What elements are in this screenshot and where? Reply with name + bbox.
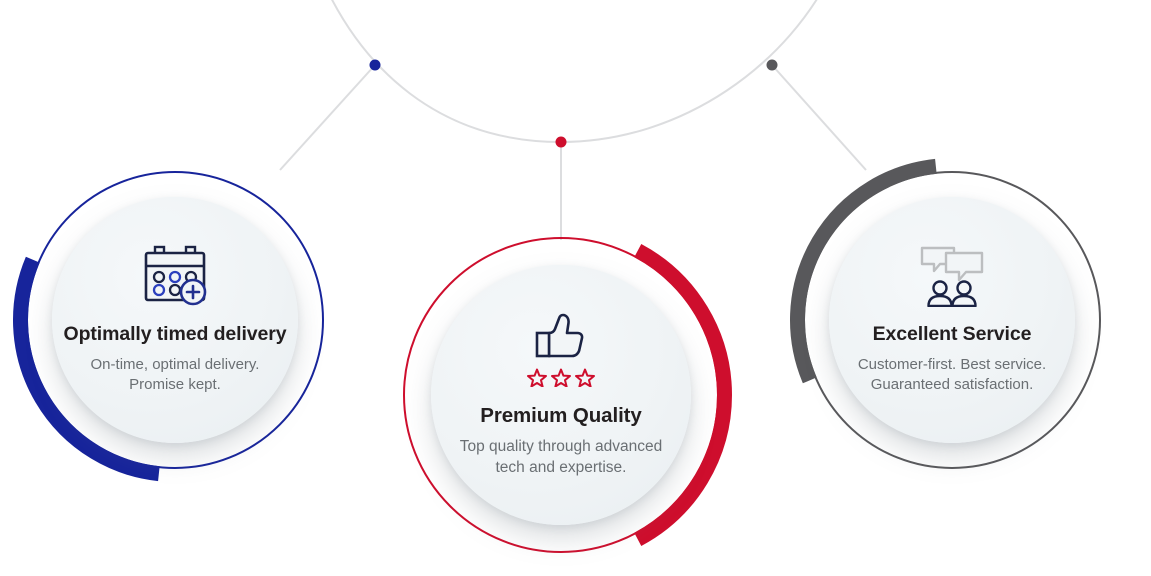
card-desc-line: On-time, optimal delivery. bbox=[91, 355, 260, 375]
card-title-service: Excellent Service bbox=[873, 323, 1032, 346]
star-rating-quality bbox=[525, 367, 597, 387]
card-desc-line: tech and expertise. bbox=[460, 458, 663, 478]
star-icon bbox=[552, 370, 570, 387]
speech-bubble-icon bbox=[946, 253, 982, 280]
thumbs-up-stars-icon bbox=[525, 312, 597, 387]
disc-service: Excellent Service Customer-first. Best s… bbox=[829, 197, 1075, 443]
disc-delivery: Optimally timed delivery On-time, optima… bbox=[52, 197, 298, 443]
card-desc-service: Customer-first. Best service. Guaranteed… bbox=[858, 355, 1046, 395]
calendar-plus-icon bbox=[142, 245, 208, 307]
card-premium-quality[interactable]: Premium Quality Top quality through adva… bbox=[374, 208, 748, 576]
card-excellent-service[interactable]: Excellent Service Customer-first. Best s… bbox=[774, 142, 1130, 498]
node-dot-service[interactable] bbox=[767, 60, 778, 71]
chat-people-icon bbox=[918, 245, 986, 307]
card-optimally-timed-delivery[interactable]: Optimally timed delivery On-time, optima… bbox=[0, 142, 353, 498]
person-icon bbox=[958, 282, 971, 295]
card-title-delivery: Optimally timed delivery bbox=[64, 323, 287, 346]
infographic-canvas: Optimally timed delivery On-time, optima… bbox=[0, 0, 1151, 576]
disc-quality: Premium Quality Top quality through adva… bbox=[431, 265, 691, 525]
card-desc-delivery: On-time, optimal delivery. Promise kept. bbox=[91, 355, 260, 395]
card-desc-line: Customer-first. Best service. bbox=[858, 355, 1046, 375]
card-desc-line: Guaranteed satisfaction. bbox=[858, 375, 1046, 395]
card-desc-line: Top quality through advanced bbox=[460, 437, 663, 457]
star-icon bbox=[576, 370, 594, 387]
card-desc-quality: Top quality through advanced tech and ex… bbox=[460, 437, 663, 478]
node-dot-delivery[interactable] bbox=[370, 60, 381, 71]
card-desc-line: Promise kept. bbox=[91, 375, 260, 395]
card-title-quality: Premium Quality bbox=[480, 404, 641, 428]
person-icon bbox=[934, 282, 947, 295]
star-icon bbox=[528, 370, 546, 387]
node-dot-quality[interactable] bbox=[556, 137, 567, 148]
top-arc-path bbox=[318, 0, 835, 142]
